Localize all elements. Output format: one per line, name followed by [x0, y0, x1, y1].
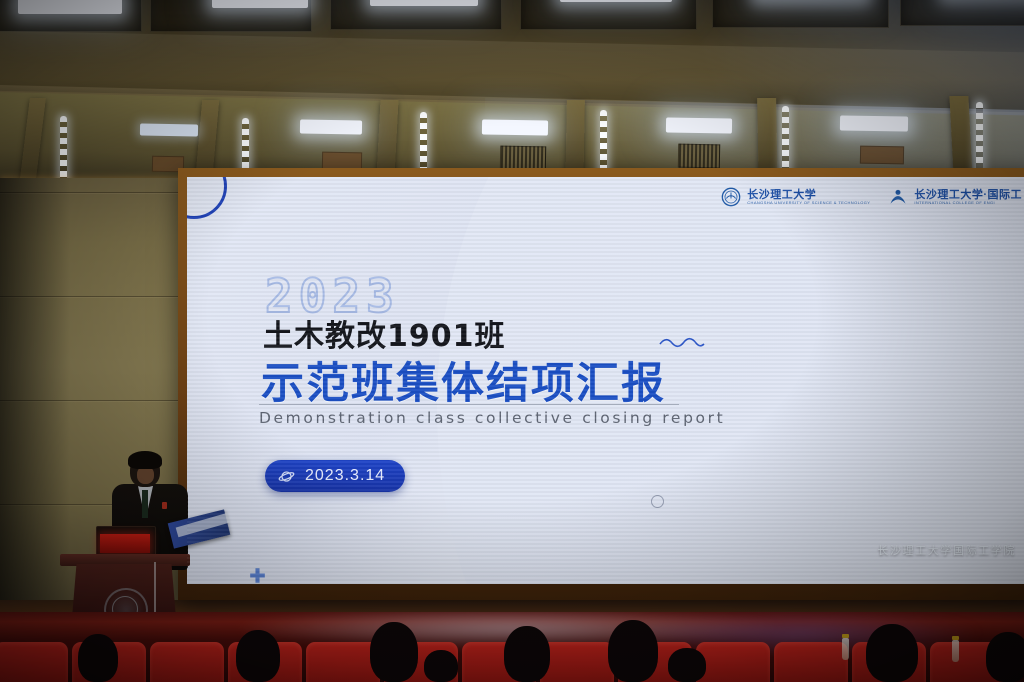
ceiling — [0, 0, 1024, 190]
speaker-hair — [128, 451, 162, 469]
slide-title-en: Demonstration class collective closing r… — [259, 409, 725, 427]
seat — [306, 642, 380, 682]
logo-college-cn: 长沙理工大学·国际工 — [914, 190, 1022, 201]
slide-content: 2023 土木教改1901班 示范班集体结项汇报 Demonstration c… — [187, 177, 1024, 584]
audience-head — [424, 650, 458, 682]
slide-logo-group: 长沙理工大学 CHANGSHA UNIVERSITY OF SCIENCE & … — [721, 187, 1022, 207]
ceiling-led-strip — [60, 116, 67, 182]
circle-outline-icon — [651, 495, 664, 508]
audience-head — [866, 624, 918, 682]
ceiling-coffer — [520, 0, 697, 30]
ceiling-hvac-vent — [500, 146, 546, 171]
audience-head — [78, 634, 118, 682]
ceiling-tile — [860, 146, 904, 165]
audience-head — [668, 648, 706, 682]
ceiling-hvac-vent — [678, 144, 720, 169]
seat — [0, 642, 68, 682]
ceiling-panel-light — [300, 119, 362, 134]
slide-title-cn: 示范班集体结项汇报 — [261, 349, 666, 411]
audience-head — [608, 620, 658, 682]
audience-head — [370, 622, 418, 682]
slide-photo-caption: 长沙理工大学国际工学院 — [877, 542, 1016, 558]
seat — [150, 642, 224, 682]
speaker-lapel-badge — [162, 502, 167, 509]
slide-date-text: 2023.3.14 — [305, 467, 385, 485]
audience-head — [236, 630, 280, 682]
ceiling-panel-light — [560, 0, 672, 2]
audience-head — [504, 626, 550, 682]
water-bottle-cap — [842, 634, 849, 638]
ceiling-panel-light — [18, 0, 122, 14]
logo-international-college: 长沙理工大学·国际工 INTERNATIONAL COLLEGE OF ENGI — [888, 187, 1022, 207]
ceiling-coffer — [712, 0, 889, 28]
circle-outline-icon — [187, 177, 227, 219]
laptop-screen — [100, 534, 150, 553]
lecture-hall-photo: 2023 土木教改1901班 示范班集体结项汇报 Demonstration c… — [0, 0, 1024, 682]
audience-front-row — [0, 612, 1024, 682]
international-college-icon — [888, 187, 908, 207]
planet-icon — [278, 468, 295, 485]
ceiling-coffer — [900, 0, 1024, 26]
ceiling-panel-light — [840, 115, 908, 131]
podium-and-speaker — [58, 440, 238, 640]
logo-university: 长沙理工大学 CHANGSHA UNIVERSITY OF SCIENCE & … — [721, 187, 870, 207]
water-bottle-cap — [952, 636, 959, 640]
speaker-tie — [142, 490, 148, 518]
audience-head — [986, 632, 1024, 682]
plus-icon — [249, 567, 266, 584]
seat — [774, 642, 848, 682]
ceiling-panel-light — [212, 0, 308, 8]
logo-college-en: INTERNATIONAL COLLEGE OF ENGI — [914, 201, 1022, 205]
university-seal-icon — [721, 187, 741, 207]
water-bottle — [842, 638, 849, 660]
projection-screen[interactable]: 2023 土木教改1901班 示范班集体结项汇报 Demonstration c… — [187, 177, 1024, 584]
ceiling-panel-light — [482, 119, 548, 135]
water-bottle — [952, 640, 959, 662]
seat — [696, 642, 770, 682]
logo-university-cn: 长沙理工大学 — [747, 190, 870, 201]
seat — [540, 642, 614, 682]
ceiling-panel-light — [140, 123, 198, 136]
slide-date-badge[interactable]: 2023.3.14 — [265, 460, 405, 492]
logo-university-en: CHANGSHA UNIVERSITY OF SCIENCE & TECHNOL… — [747, 201, 870, 205]
ceiling-panel-light — [666, 117, 732, 133]
projection-screen-frame: 2023 土木教改1901班 示范班集体结项汇报 Demonstration c… — [178, 168, 1024, 600]
ceiling-led-strip — [976, 102, 983, 176]
wave-icon — [659, 335, 705, 349]
gooseneck-microphone — [154, 562, 156, 618]
ceiling-panel-light — [370, 0, 478, 6]
